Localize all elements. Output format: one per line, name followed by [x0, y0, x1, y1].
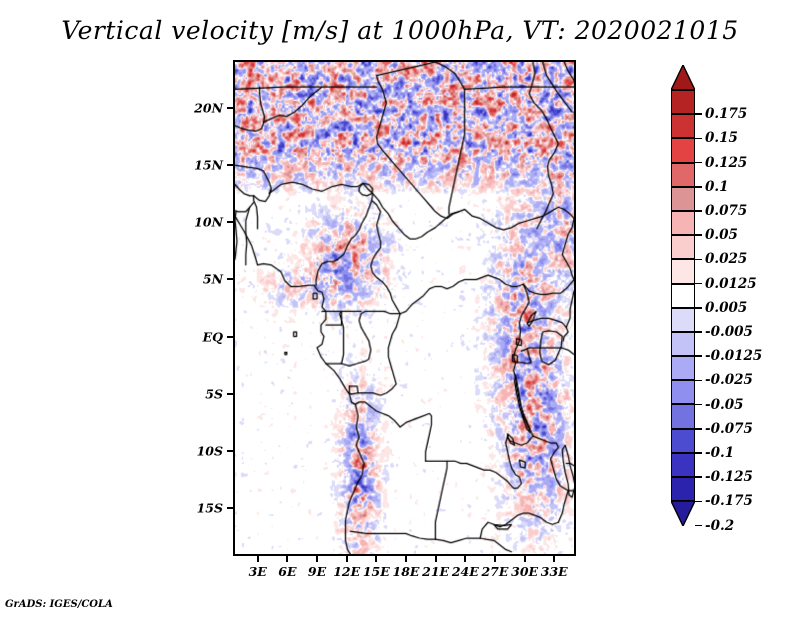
- colorbar-swatch: [671, 284, 695, 308]
- colorbar-tick: [695, 452, 702, 454]
- colorbar-tick: [695, 138, 702, 140]
- x-axis-label: 33E: [541, 564, 568, 579]
- colorbar-tick: [695, 380, 702, 382]
- colorbar-tick-label: 0.05: [705, 227, 738, 243]
- colorbar-tick-label: -0.005: [705, 324, 753, 340]
- colorbar-swatch: [671, 259, 695, 283]
- x-axis-tick: [286, 556, 288, 562]
- colorbar-tick-label: 0.175: [705, 106, 747, 122]
- colorbar-tick: [695, 428, 702, 430]
- x-axis-tick: [553, 556, 555, 562]
- colorbar-tick: [695, 210, 702, 212]
- colorbar-swatch: [671, 211, 695, 235]
- colorbar-tick-label: -0.125: [705, 469, 753, 485]
- colorbar-swatch: [671, 308, 695, 332]
- colorbar-max-arrow-icon: [671, 65, 695, 90]
- x-axis-tick: [524, 556, 526, 562]
- map-plot-area: [233, 60, 576, 556]
- y-axis-tick: [227, 336, 233, 338]
- colorbar-swatch: [671, 138, 695, 162]
- y-axis-tick: [227, 221, 233, 223]
- y-axis-tick: [227, 107, 233, 109]
- x-axis-tick: [346, 556, 348, 562]
- x-axis-tick: [257, 556, 259, 562]
- x-axis-label: 15E: [363, 564, 390, 579]
- colorbar-swatches: [671, 90, 695, 501]
- y-axis-label: 15N: [175, 158, 223, 173]
- colorbar-tick: [695, 476, 702, 478]
- colorbar-tick: [695, 501, 702, 503]
- colorbar-swatch: [671, 477, 695, 501]
- colorbar-min-arrow-icon: [671, 501, 695, 526]
- y-axis-tick: [227, 393, 233, 395]
- colorbar-tick-label: 0.125: [705, 155, 747, 171]
- colorbar-tick: [695, 186, 702, 188]
- colorbar-tick-label: -0.1: [705, 445, 734, 461]
- x-axis-tick: [316, 556, 318, 562]
- colorbar-swatch: [671, 90, 695, 114]
- y-axis-tick: [227, 450, 233, 452]
- x-axis-label: 30E: [511, 564, 538, 579]
- colorbar-tick: [695, 283, 702, 285]
- colorbar-tick-label: -0.2: [705, 518, 734, 534]
- colorbar-swatch: [671, 187, 695, 211]
- y-axis-label: 5N: [175, 272, 223, 287]
- x-axis-label: 21E: [422, 564, 449, 579]
- x-axis-label: 6E: [278, 564, 296, 579]
- colorbar-swatch: [671, 380, 695, 404]
- x-axis-tick: [494, 556, 496, 562]
- colorbar-tick-label: 0.1: [705, 179, 729, 195]
- colorbar-tick-label: 0.15: [705, 130, 738, 146]
- y-axis-label: 5S: [175, 386, 223, 401]
- colorbar-tick: [695, 355, 702, 357]
- colorbar-tick-label: -0.025: [705, 372, 753, 388]
- colorbar-tick: [695, 525, 702, 527]
- x-axis-label: 24E: [452, 564, 479, 579]
- colorbar-tick-label: -0.075: [705, 421, 753, 437]
- colorbar-swatch: [671, 453, 695, 477]
- y-axis-tick: [227, 164, 233, 166]
- colorbar-swatch: [671, 114, 695, 138]
- x-axis-tick: [464, 556, 466, 562]
- y-axis-label: 10S: [175, 443, 223, 458]
- colorbar-swatch: [671, 356, 695, 380]
- x-axis-tick: [375, 556, 377, 562]
- colorbar-swatch: [671, 235, 695, 259]
- y-axis-tick: [227, 507, 233, 509]
- colorbar-tick-label: 0.025: [705, 251, 747, 267]
- vertical-velocity-heatmap: [235, 62, 574, 554]
- x-axis-label: 27E: [481, 564, 508, 579]
- x-axis-label: 9E: [308, 564, 326, 579]
- x-axis-tick: [435, 556, 437, 562]
- colorbar-tick: [695, 234, 702, 236]
- y-axis-label: 10N: [175, 215, 223, 230]
- colorbar-swatch: [671, 429, 695, 453]
- x-axis-label: 18E: [393, 564, 420, 579]
- y-axis-tick: [227, 278, 233, 280]
- colorbar-swatch: [671, 332, 695, 356]
- grads-attribution: GrADS: IGES/COLA: [5, 599, 113, 610]
- colorbar-tick: [695, 259, 702, 261]
- y-axis-label: EQ: [175, 329, 223, 344]
- colorbar-tick-label: 0.0125: [705, 276, 757, 292]
- x-axis-label: 12E: [333, 564, 360, 579]
- x-axis-label: 3E: [249, 564, 267, 579]
- colorbar-tick-label: -0.05: [705, 397, 743, 413]
- colorbar-tick: [695, 307, 702, 309]
- colorbar-swatch: [671, 404, 695, 428]
- y-axis-label: 20N: [175, 101, 223, 116]
- colorbar-tick-label: 0.005: [705, 300, 747, 316]
- colorbar-tick: [695, 404, 702, 406]
- colorbar-tick: [695, 162, 702, 164]
- colorbar: 0.1750.150.1250.10.0750.050.0250.01250.0…: [668, 60, 798, 560]
- y-axis-label: 15S: [175, 501, 223, 516]
- colorbar-tick: [695, 331, 702, 333]
- colorbar-swatch: [671, 163, 695, 187]
- page-title: Vertical velocity [m/s] at 1000hPa, VT: …: [0, 16, 800, 45]
- colorbar-tick: [695, 113, 702, 115]
- colorbar-tick-label: 0.075: [705, 203, 747, 219]
- colorbar-tick-label: -0.175: [705, 493, 753, 509]
- colorbar-tick-label: -0.0125: [705, 348, 762, 364]
- x-axis-tick: [405, 556, 407, 562]
